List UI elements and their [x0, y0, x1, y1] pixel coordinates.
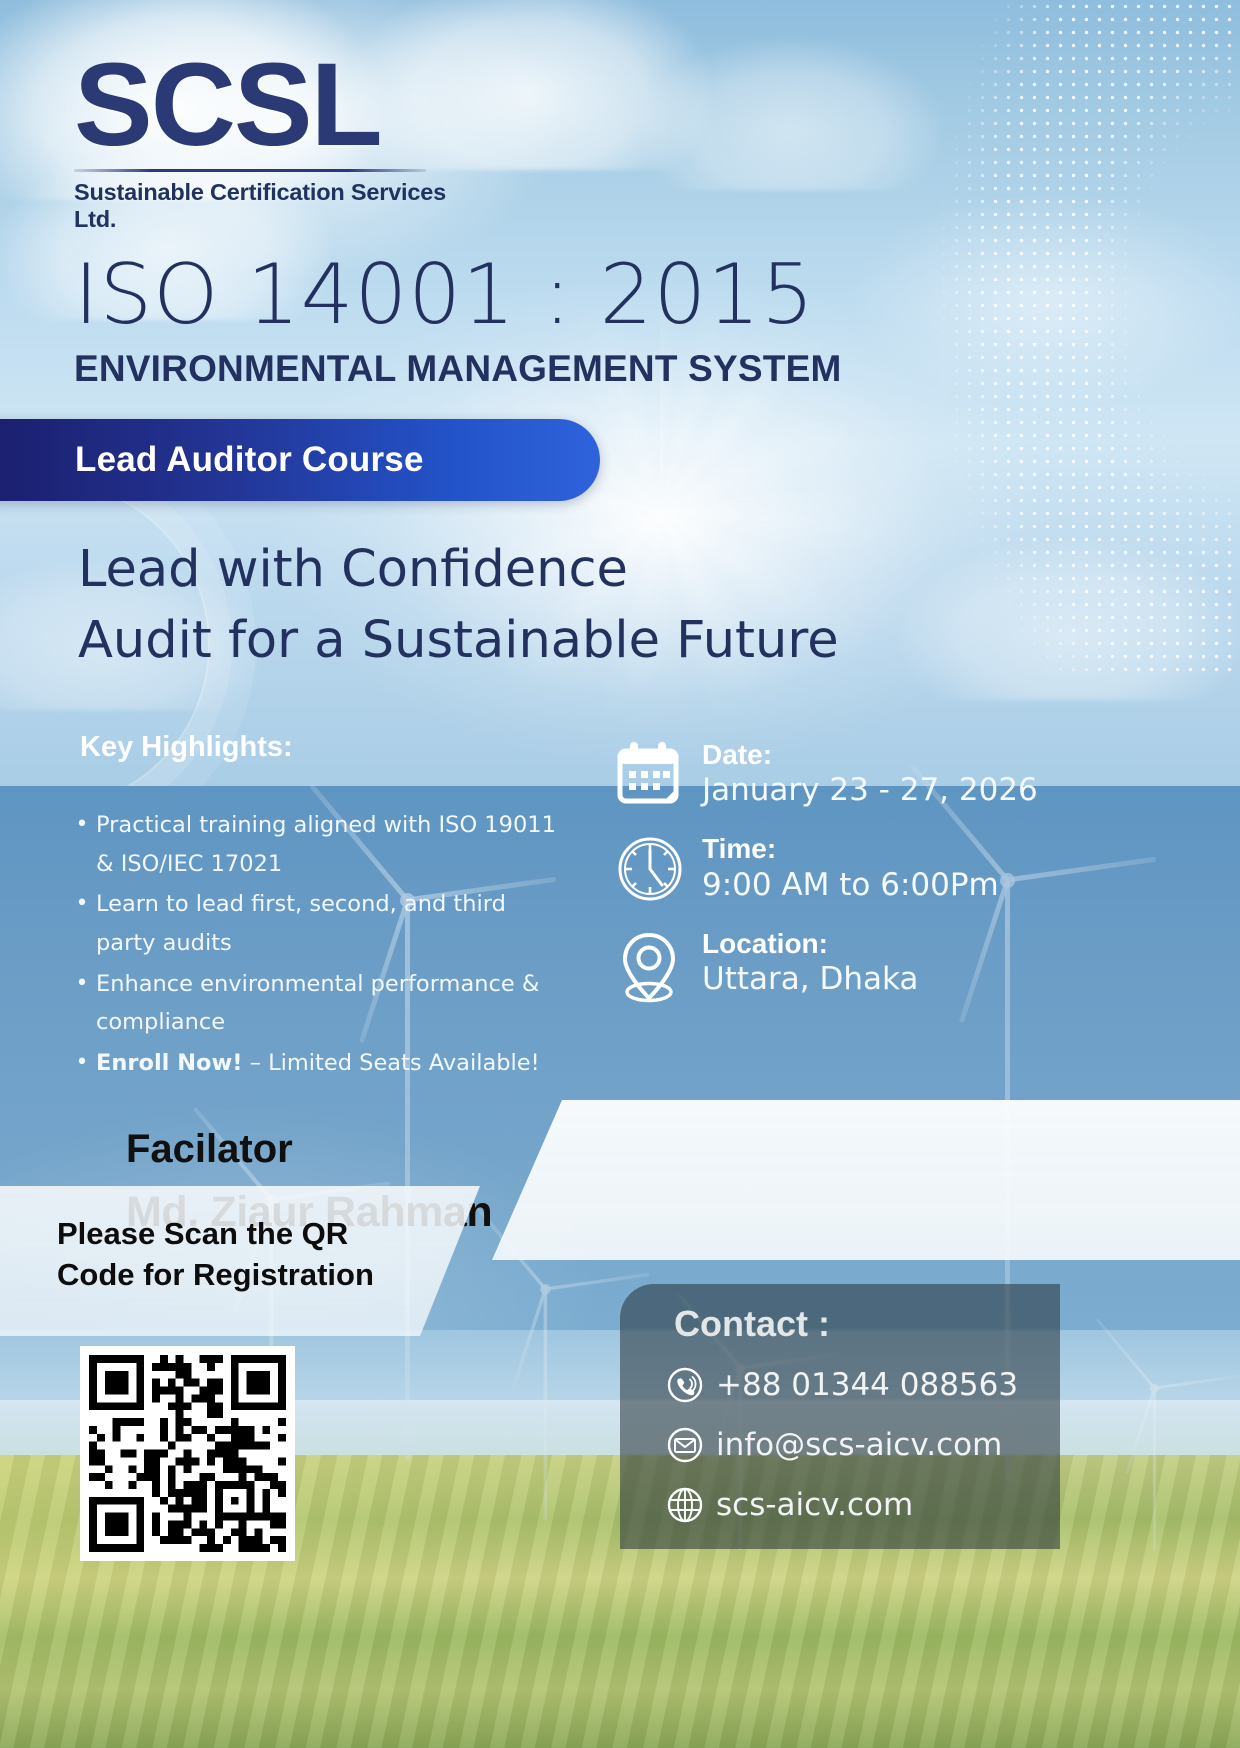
course-badge: Lead Auditor Course [0, 419, 600, 501]
key-highlight-text: Enhance environmental performance & comp… [96, 965, 568, 1042]
turbine-hub [540, 1284, 551, 1295]
key-highlight-item: •Learn to lead first, second, and third … [68, 885, 568, 962]
location-pin-icon [616, 926, 702, 1008]
calendar-icon [616, 737, 702, 805]
qr-code-matrix [89, 1355, 286, 1552]
contact-row-website[interactable]: scs-aicv.com [666, 1486, 913, 1524]
key-highlight-text: Learn to lead first, second, and third p… [96, 885, 568, 962]
key-highlight-text: Enroll Now! – Limited Seats Available! [96, 1044, 568, 1083]
qr-caption-line-1: Please Scan the QR [57, 1213, 477, 1254]
bullet-icon: • [68, 806, 96, 883]
bullet-icon: • [68, 885, 96, 962]
globe-icon [666, 1486, 712, 1524]
detail-body-location: Location: Uttara, Dhaka [702, 926, 1086, 998]
detail-row-date: Date: January 23 - 27, 2026 [616, 737, 1086, 809]
logo-tagline: Sustainable Certification Services Ltd. [74, 179, 494, 233]
wind-turbine-icon [1152, 1388, 1157, 1550]
detail-value-location: Uttara, Dhaka [702, 961, 1086, 998]
envelope-icon [666, 1426, 712, 1464]
detail-value-time: 9:00 AM to 6:00Pm [702, 867, 1086, 904]
poster-root: SCSL Sustainable Certification Services … [0, 0, 1240, 1748]
contact-title: Contact : [674, 1303, 830, 1345]
detail-row-time: Time: 9:00 AM to 6:00Pm [616, 831, 1086, 903]
key-highlights-title: Key Highlights: [80, 731, 293, 764]
wind-turbine-icon [542, 1289, 549, 1520]
key-highlights-list: •Practical training aligned with ISO 190… [68, 806, 568, 1085]
key-highlight-item: •Practical training aligned with ISO 190… [68, 806, 568, 883]
bullet-icon: • [68, 965, 96, 1042]
contact-row-email[interactable]: info@scs-aicv.com [666, 1426, 1002, 1464]
standard-title: ISO 14001 : 2015 [74, 253, 815, 336]
turbine-hub [1150, 1384, 1159, 1393]
turbine-mast [1153, 1388, 1156, 1550]
contact-phone: +88 01344 088563 [712, 1367, 1018, 1403]
cloud-decoration [900, 540, 1240, 700]
qr-caption: Please Scan the QR Code for Registration [57, 1213, 477, 1295]
logo-wordmark: SCSL [74, 46, 494, 164]
key-highlight-item: •Enroll Now! – Limited Seats Available! [68, 1044, 568, 1083]
turbine-mast [543, 1289, 547, 1520]
detail-label-date: Date: [702, 738, 1086, 772]
course-badge-label: Lead Auditor Course [75, 440, 424, 480]
qr-caption-line-2: Code for Registration [57, 1254, 477, 1295]
key-highlight-text: Practical training aligned with ISO 1901… [96, 806, 568, 883]
bullet-icon: • [68, 1044, 96, 1083]
tagline-line-1: Lead with Confidence [78, 534, 839, 605]
clock-icon [616, 831, 702, 903]
company-logo: SCSL Sustainable Certification Services … [74, 46, 494, 233]
detail-label-time: Time: [702, 832, 1086, 866]
detail-label-location: Location: [702, 927, 1086, 961]
qr-code[interactable] [80, 1346, 295, 1561]
contact-website: scs-aicv.com [712, 1487, 913, 1523]
facilitator-role: Facilator [126, 1127, 293, 1172]
contact-row-phone[interactable]: +88 01344 088563 [666, 1366, 1018, 1404]
event-details: Date: January 23 - 27, 2026 [616, 737, 1086, 1030]
detail-value-date: January 23 - 27, 2026 [702, 772, 1086, 809]
contact-email: info@scs-aicv.com [712, 1427, 1002, 1463]
detail-row-location: Location: Uttara, Dhaka [616, 926, 1086, 1008]
phone-icon [666, 1366, 712, 1404]
tagline-line-2: Audit for a Sustainable Future [78, 605, 839, 676]
standard-subtitle: ENVIRONMENTAL MANAGEMENT SYSTEM [74, 348, 841, 390]
detail-body-date: Date: January 23 - 27, 2026 [702, 737, 1086, 809]
detail-body-time: Time: 9:00 AM to 6:00Pm [702, 831, 1086, 903]
facilitator-panel [492, 1100, 1240, 1260]
key-highlight-item: •Enhance environmental performance & com… [68, 965, 568, 1042]
tagline: Lead with Confidence Audit for a Sustain… [78, 534, 839, 677]
contact-panel: Contact : +88 01344 088563 inf [620, 1284, 1060, 1549]
